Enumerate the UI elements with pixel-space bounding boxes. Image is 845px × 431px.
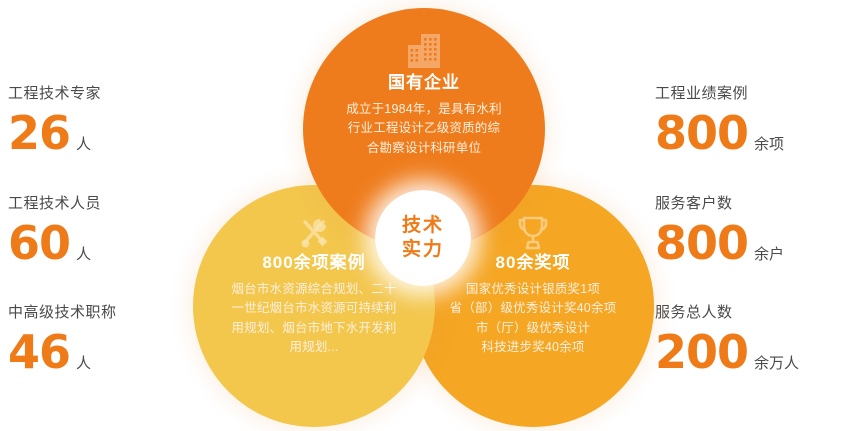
tools-icon [293,212,335,254]
circle-body: 烟台市水资源综合规划、二十 一世纪烟台市水资源可持续利 用规划、烟台市地下水开发… [193,280,435,358]
stat-senior-titles: 中高级技术职称 46 人 [8,305,117,373]
stat-unit: 人 [76,352,91,373]
stat-unit: 余万人 [754,352,799,373]
center-badge: 技术 实力 [375,190,471,286]
stat-number: 200 [655,331,748,373]
circle-body: 成立于1984年，是具有水利 行业工程设计乙级资质的综 合勘察设计科研单位 [303,100,545,158]
building-icon [402,30,446,74]
stat-value-row: 46 人 [8,331,117,373]
circle-title: 国有企业 [303,74,545,91]
stat-label: 服务总人数 [655,305,799,320]
stat-number: 26 [8,112,70,154]
stat-unit: 余项 [754,133,784,154]
right-stats-column: 工程业绩案例 800 余项 服务客户数 800 余户 服务总人数 200 余万人 [647,0,845,431]
stat-value-row: 200 余万人 [655,331,799,373]
stat-value-row: 60 人 [8,222,101,264]
center-line-2: 实力 [402,238,444,262]
circle-content-enterprise: 国有企业 成立于1984年，是具有水利 行业工程设计乙级资质的综 合勘察设计科研… [303,30,545,158]
stat-label: 中高级技术职称 [8,305,117,320]
stat-value-row: 800 余户 [655,222,784,264]
trophy-icon [512,212,554,254]
stat-number: 46 [8,331,70,373]
stat-label: 工程业绩案例 [655,86,784,101]
stat-unit: 人 [76,243,91,264]
left-stats-column: 工程技术专家 26 人 工程技术人员 60 人 中高级技术职称 46 人 [0,0,198,431]
stat-number: 60 [8,222,70,264]
stat-engineering-staff: 工程技术人员 60 人 [8,196,101,264]
stat-clients-served: 服务客户数 800 余户 [655,196,784,264]
stat-value-row: 26 人 [8,112,101,154]
stat-value-row: 800 余项 [655,112,784,154]
stat-project-cases: 工程业绩案例 800 余项 [655,86,784,154]
stat-label: 工程技术人员 [8,196,101,211]
stat-unit: 人 [76,133,91,154]
center-line-1: 技术 [402,214,444,238]
stat-label: 服务客户数 [655,196,784,211]
stat-unit: 余户 [754,243,784,264]
stat-number: 800 [655,112,748,154]
stat-number: 800 [655,222,748,264]
stat-engineering-experts: 工程技术专家 26 人 [8,86,101,154]
stat-label: 工程技术专家 [8,86,101,101]
venn-diagram: 国有企业 成立于1984年，是具有水利 行业工程设计乙级资质的综 合勘察设计科研… [181,0,665,431]
stat-total-people-served: 服务总人数 200 余万人 [655,305,799,373]
circle-body: 国家优秀设计银质奖1项 省（部）级优秀设计奖40余项 市（厅）级优秀设计 科技进… [412,280,654,358]
